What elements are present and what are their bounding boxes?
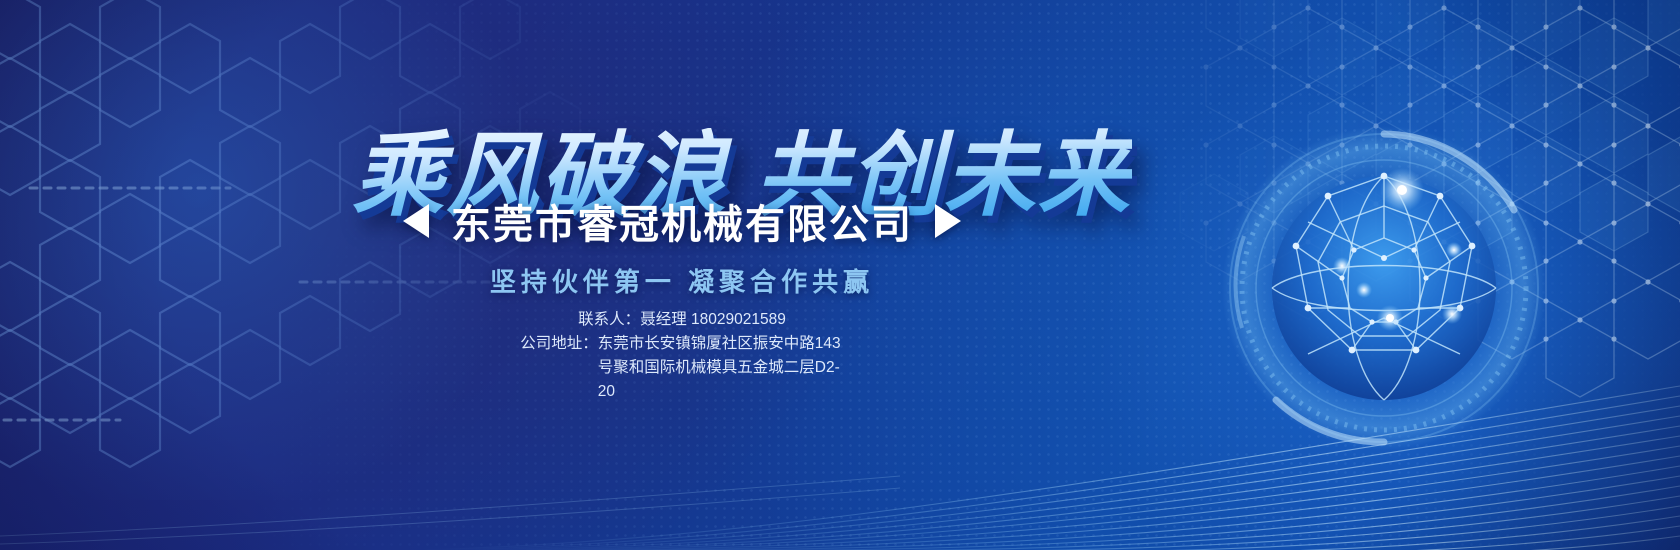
contact-person-line: 联系人： 聂经理 18029021589 bbox=[352, 308, 1012, 332]
left-triangle-icon bbox=[403, 204, 429, 238]
contact-person-label: 联系人： bbox=[578, 308, 640, 332]
company-address-label: 公司地址： bbox=[520, 332, 598, 356]
promo-banner: 乘风破浪 共创未来 东莞市睿冠机械有限公司 坚持伙伴第一 凝聚合作共赢 联系人：… bbox=[0, 0, 1680, 550]
company-name-row: 东莞市睿冠机械有限公司 bbox=[352, 192, 1012, 250]
company-address-value: 东莞市长安镇锦厦社区振安中路143号聚和国际机械模具五金城二层D2-20 bbox=[598, 332, 844, 404]
contact-person-value: 聂经理 18029021589 bbox=[640, 308, 786, 332]
company-name: 东莞市睿冠机械有限公司 bbox=[451, 192, 913, 250]
company-address-line: 公司地址： 东莞市长安镇锦厦社区振安中路143号聚和国际机械模具五金城二层D2-… bbox=[352, 332, 1012, 404]
contact-block: 联系人： 聂经理 18029021589 公司地址： 东莞市长安镇锦厦社区振安中… bbox=[352, 308, 1012, 404]
right-triangle-icon bbox=[935, 204, 961, 238]
banner-content: 乘风破浪 共创未来 东莞市睿冠机械有限公司 坚持伙伴第一 凝聚合作共赢 联系人：… bbox=[0, 0, 1060, 550]
slogan-text: 坚持伙伴第一 凝聚合作共赢 bbox=[352, 262, 1012, 299]
